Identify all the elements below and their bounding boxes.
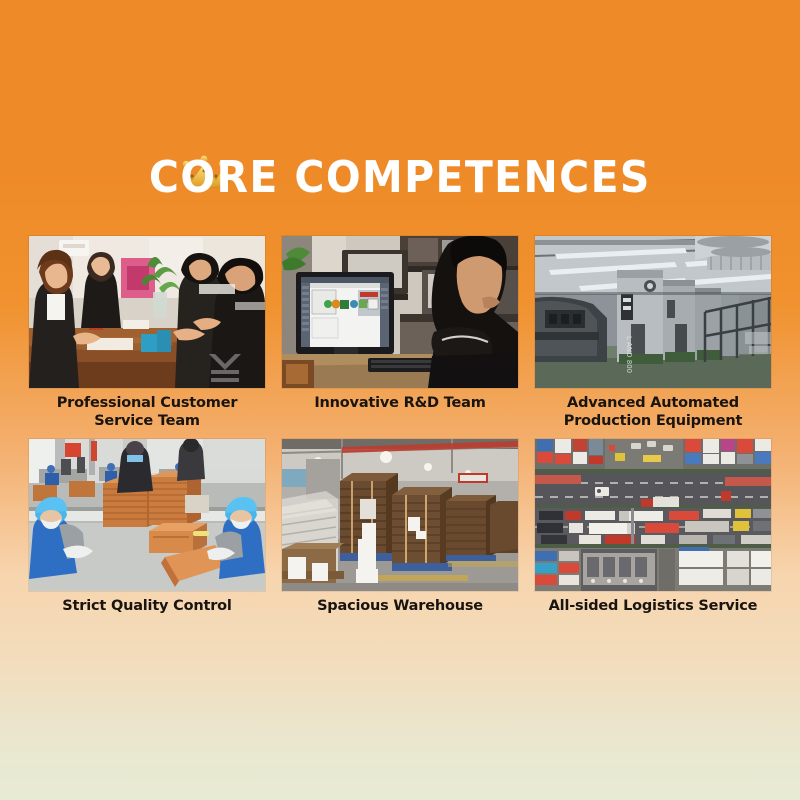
- photo-logistics-aerial: [535, 439, 771, 591]
- photo-warehouse-pallets: [282, 439, 518, 591]
- poster-canvas: CORE COMPETENCES: [0, 0, 800, 800]
- title-block: CORE COMPETENCES: [0, 150, 800, 206]
- card-caption: Advanced Automated Production Equipment: [535, 394, 771, 432]
- competence-card[interactable]: All-sided Logistics Service: [535, 439, 771, 619]
- photo-quality-inspection: [29, 439, 265, 591]
- page-title: CORE COMPETENCES: [149, 150, 651, 206]
- card-caption: All-sided Logistics Service: [535, 597, 771, 619]
- svg-text:L AND 800: L AND 800: [625, 336, 633, 373]
- competence-card[interactable]: Professional Customer Service Team: [29, 236, 265, 432]
- card-caption: Strict Quality Control: [29, 597, 265, 619]
- photo-designer-at-computer: [282, 236, 518, 388]
- card-caption: Spacious Warehouse: [282, 597, 518, 619]
- card-caption: Professional Customer Service Team: [29, 394, 265, 432]
- photo-meeting-room: [29, 236, 265, 388]
- card-caption: Innovative R&D Team: [282, 394, 518, 432]
- competence-card[interactable]: Spacious Warehouse: [282, 439, 518, 619]
- competence-card[interactable]: Strict Quality Control: [29, 439, 265, 619]
- competences-grid: Professional Customer Service Team: [29, 236, 771, 619]
- photo-printing-press-line: L AND 800: [535, 236, 771, 388]
- competence-card[interactable]: L AND 800 Advanced Automated Production …: [535, 236, 771, 432]
- competence-card[interactable]: Innovative R&D Team: [282, 236, 518, 432]
